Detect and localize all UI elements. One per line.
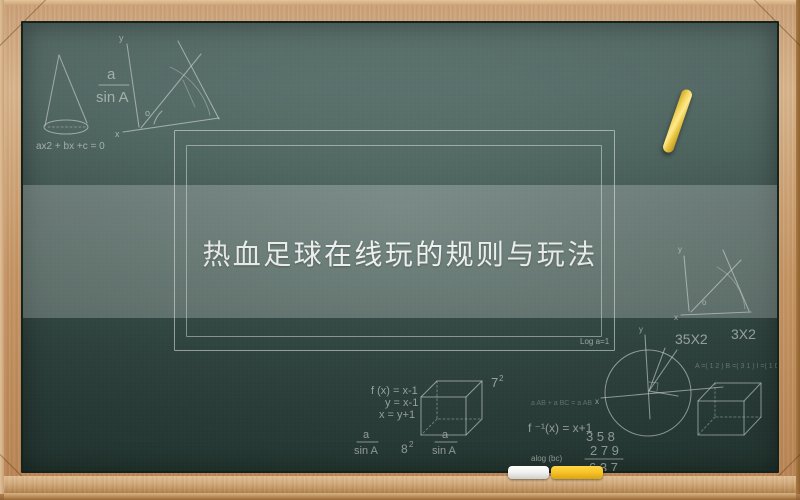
svg-text:a: a bbox=[442, 429, 449, 441]
fraction-a-sin-a-top: a sin A bbox=[96, 66, 129, 106]
svg-text:y = x-1: y = x-1 bbox=[385, 397, 418, 409]
svg-text:o: o bbox=[145, 108, 150, 118]
svg-text:2 7 9: 2 7 9 bbox=[590, 443, 619, 458]
page-title: 热血足球在线玩的规则与玩法 bbox=[23, 233, 777, 273]
label-35x2-text: 35X2 bbox=[675, 331, 708, 347]
cube-left-drawing bbox=[421, 381, 482, 435]
ledge-front-lip bbox=[4, 493, 796, 500]
label-3x2-text: 3X2 bbox=[731, 326, 756, 342]
inverse-function-text: f ⁻¹(x) = x+1 bbox=[528, 421, 593, 435]
svg-text:7: 7 bbox=[491, 375, 498, 390]
frame-right-bevel bbox=[796, 0, 800, 500]
quadratic-text: ax2 + bx +c = 0 bbox=[36, 141, 105, 152]
function-lines-text: f (x) = x-1 y = x-1 x = y+1 bbox=[371, 385, 418, 421]
svg-text:y: y bbox=[639, 325, 643, 334]
fraction-a-sin-a-lower-mid: a sin A bbox=[432, 429, 457, 457]
svg-text:sin A: sin A bbox=[354, 445, 379, 457]
angle-diagram-top: y x o bbox=[115, 33, 219, 139]
frame-left-bevel bbox=[0, 0, 4, 500]
cube-right-drawing bbox=[698, 383, 761, 435]
chalkboard-scene: a sin A y x o ax2 bbox=[0, 0, 800, 500]
svg-text:3 5 8: 3 5 8 bbox=[586, 429, 615, 444]
chalk-ledge bbox=[4, 476, 796, 494]
svg-text:sin A: sin A bbox=[96, 89, 129, 106]
svg-text:x = y+1: x = y+1 bbox=[379, 409, 415, 421]
fraction-a-sin-a-lower-left: a sin A bbox=[354, 429, 379, 457]
faint-formula-text: a AB + a BC = a AB bbox=[531, 400, 592, 407]
svg-text:2: 2 bbox=[499, 374, 504, 383]
svg-text:x: x bbox=[115, 129, 120, 139]
frame-top-bevel bbox=[0, 0, 800, 5]
svg-text:sin A: sin A bbox=[432, 445, 457, 457]
power-seven-text: 7 2 bbox=[491, 374, 504, 390]
yellow-chalk-stick bbox=[662, 88, 694, 154]
matrix-row-text: A =( 1 2 ) B =( 3 1 ) I =( 1 0 ) bbox=[695, 363, 777, 370]
white-chalk-piece bbox=[508, 466, 549, 479]
svg-text:2: 2 bbox=[409, 440, 414, 449]
chalkboard-surface: a sin A y x o ax2 bbox=[23, 23, 777, 471]
alog-bc-text: alog (bc) bbox=[531, 454, 562, 463]
svg-text:a: a bbox=[107, 66, 116, 83]
svg-text:a: a bbox=[363, 429, 370, 441]
power-eight-text: 8 2 bbox=[401, 440, 414, 456]
svg-text:y: y bbox=[119, 33, 124, 43]
svg-text:8: 8 bbox=[401, 442, 408, 456]
subtraction-drawing: 3 5 8 2 7 9 6 3 7 bbox=[585, 429, 623, 471]
svg-text:x: x bbox=[595, 397, 599, 406]
cone-drawing bbox=[44, 55, 88, 134]
ledge-grain-texture bbox=[4, 476, 796, 494]
yellow-chalk-piece bbox=[551, 466, 603, 479]
svg-text:f (x) = x-1: f (x) = x-1 bbox=[371, 385, 418, 397]
